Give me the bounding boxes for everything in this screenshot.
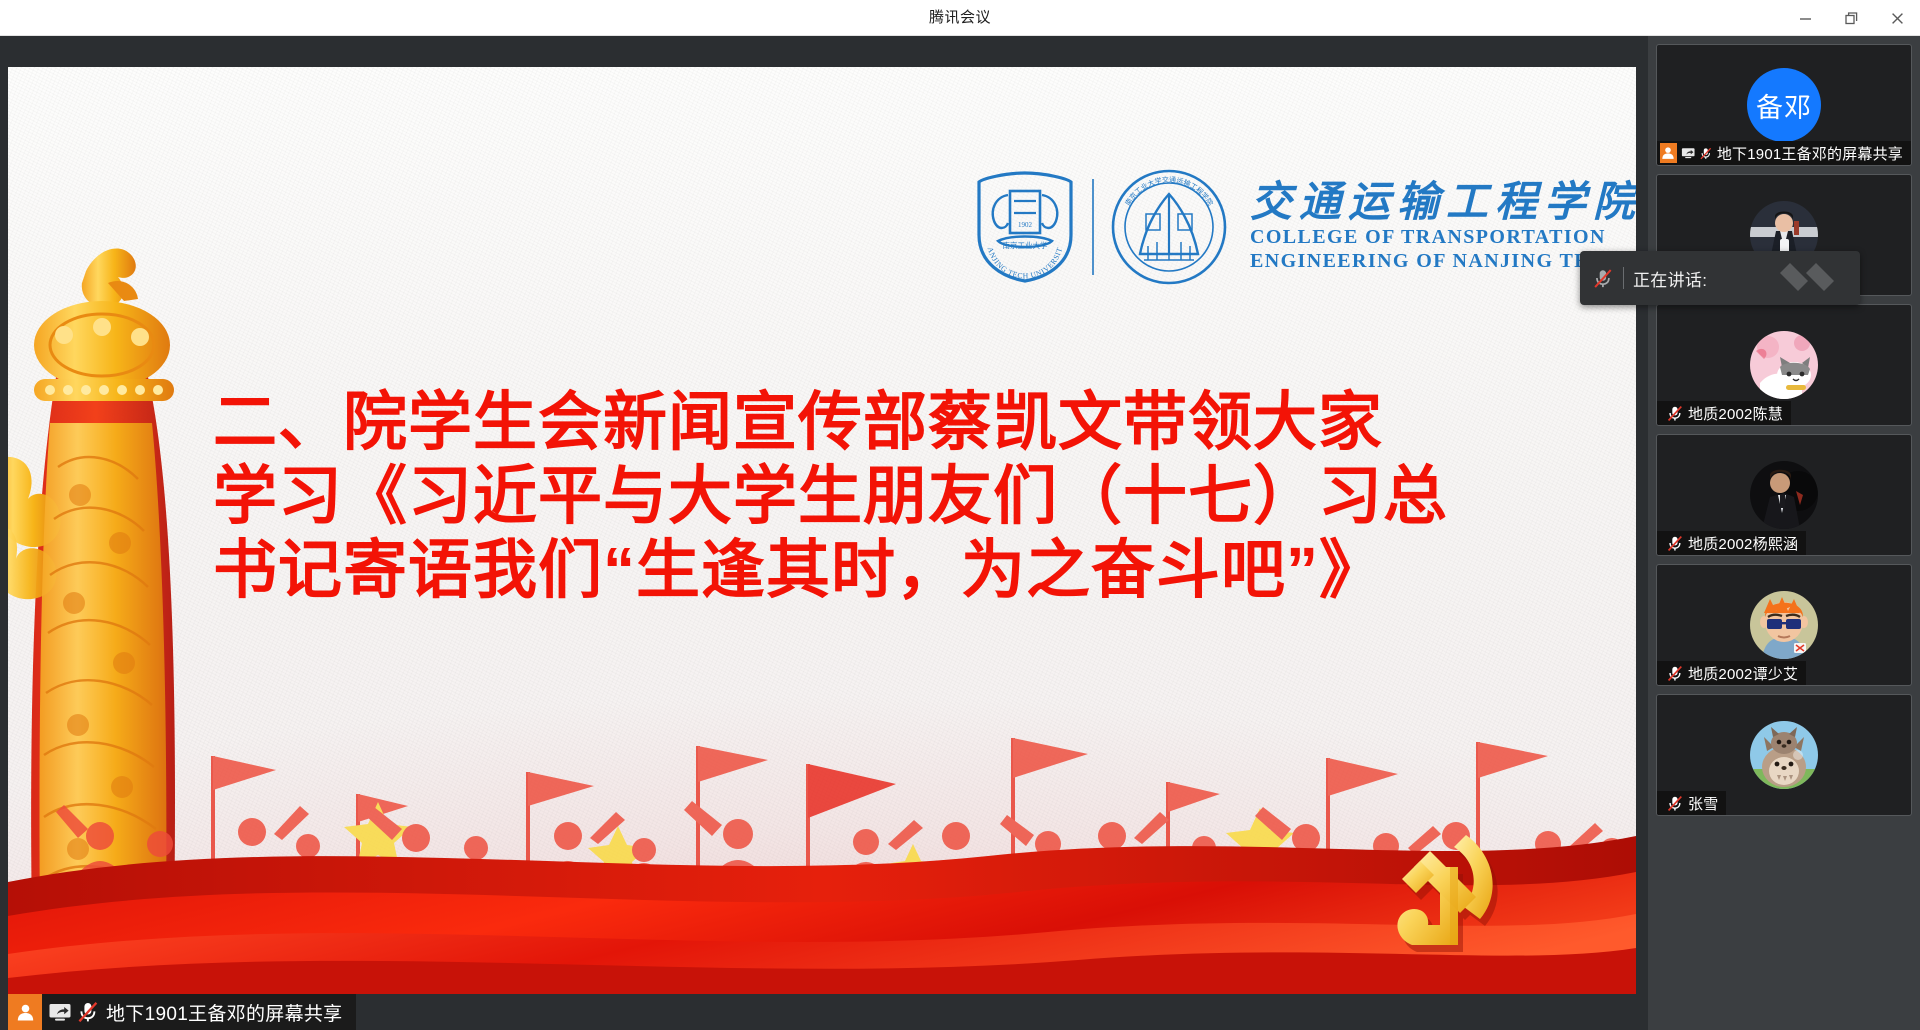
mic-muted-icon	[1666, 535, 1684, 552]
participant-namebar: 地质2002谭少艾	[1657, 661, 1806, 685]
college-name-cn: 交通运输工程学院	[1250, 181, 1636, 225]
slide-title-text: 二、院学生会新闻宣传部蔡凯文带领大家 学习《习近平与大学生朋友们（十七）习总 书…	[213, 385, 1543, 608]
svg-text:南京工业大学: 南京工业大学	[1003, 240, 1048, 250]
avatar-initials: 备邓	[1756, 86, 1812, 125]
slide-title-line-1: 二、院学生会新闻宣传部蔡凯文带领大家	[213, 385, 1543, 459]
party-emblem-icon	[1384, 827, 1534, 972]
mic-muted-icon	[1666, 795, 1684, 812]
screen-share-icon	[48, 1002, 72, 1022]
restore-icon	[1844, 11, 1859, 26]
close-button[interactable]	[1874, 0, 1920, 36]
college-seal-icon: 南京工业大学交通运输工程学院	[1110, 168, 1228, 286]
meeting-window-body: 1902 南京工业大学 NANJING TECH UNIVERSITY	[0, 36, 1920, 1030]
participant-tile[interactable]: 地质2002陈慧	[1656, 304, 1912, 426]
college-name-en-line2: ENGINEERING OF NANJING TE	[1250, 249, 1636, 273]
participant-name: 地质2002谭少艾	[1688, 663, 1798, 684]
participant-tile[interactable]: 地质2002杨熙涵	[1656, 434, 1912, 556]
participant-namebar: 地质2002杨熙涵	[1657, 531, 1806, 555]
school-logo-block: 1902 南京工业大学 NANJING TECH UNIVERSITY	[974, 167, 1636, 287]
avatar	[1750, 721, 1818, 789]
slide-title-line-3: 书记寄语我们“生逢其时，为之奋斗吧”》	[213, 533, 1543, 607]
share-owner-label: 地下1901王备邓的屏幕共享	[106, 994, 356, 1030]
mic-muted-icon	[1699, 145, 1713, 162]
minimize-button[interactable]	[1782, 0, 1828, 36]
host-person-icon	[1660, 143, 1677, 163]
participant-namebar: 地下1901王备邓的屏幕共享	[1657, 141, 1911, 165]
mic-muted-icon	[1666, 665, 1684, 682]
participant-name: 地质2002陈慧	[1688, 403, 1783, 424]
participant-name: 张雪	[1688, 793, 1718, 814]
participant-name: 地质2002杨熙涵	[1688, 533, 1798, 554]
app-title: 腾讯会议	[0, 0, 1920, 36]
avatar: 备邓	[1747, 68, 1821, 142]
participant-namebar: 张雪	[1657, 791, 1726, 815]
university-shield-icon: 1902 南京工业大学 NANJING TECH UNIVERSITY	[974, 169, 1076, 285]
mic-muted-icon	[1592, 268, 1614, 289]
participant-tile[interactable]: 张雪	[1656, 694, 1912, 816]
participant-namebar: 地质2002陈慧	[1657, 401, 1791, 425]
svg-text:1902: 1902	[1018, 221, 1033, 229]
logo-divider	[1092, 179, 1094, 275]
avatar	[1750, 331, 1818, 399]
shared-screen-slide: 1902 南京工业大学 NANJING TECH UNIVERSITY	[8, 67, 1636, 994]
avatar	[1750, 461, 1818, 529]
speaking-label: 正在讲话:	[1633, 266, 1707, 291]
restore-button[interactable]	[1828, 0, 1874, 36]
participant-tile[interactable]: 地质2002谭少艾	[1656, 564, 1912, 686]
mic-muted-icon	[76, 1001, 100, 1023]
participants-sidebar[interactable]: 备邓	[1648, 36, 1920, 1030]
minimize-icon	[1798, 11, 1813, 26]
tooltip-divider	[1623, 267, 1624, 289]
window-titlebar: 腾讯会议	[0, 0, 1920, 36]
share-status-icons	[42, 994, 106, 1030]
avatar	[1750, 591, 1818, 659]
tencent-meeting-watermark-icon	[1770, 261, 1846, 295]
screen-share-icon	[1681, 145, 1695, 161]
speaking-tooltip: 正在讲话:	[1580, 251, 1860, 305]
college-name-en-line1: COLLEGE OF TRANSPORTATION	[1250, 225, 1636, 249]
screen-share-status-bar: 地下1901王备邓的屏幕共享	[8, 994, 356, 1030]
slide-title-line-2: 学习《习近平与大学生朋友们（十七）习总	[213, 459, 1543, 533]
mic-muted-icon	[1666, 405, 1684, 422]
host-person-icon	[8, 994, 42, 1030]
close-icon	[1890, 11, 1905, 26]
participant-tile[interactable]: 备邓	[1656, 44, 1912, 166]
participant-name: 地下1901王备邓的屏幕共享	[1717, 143, 1903, 164]
